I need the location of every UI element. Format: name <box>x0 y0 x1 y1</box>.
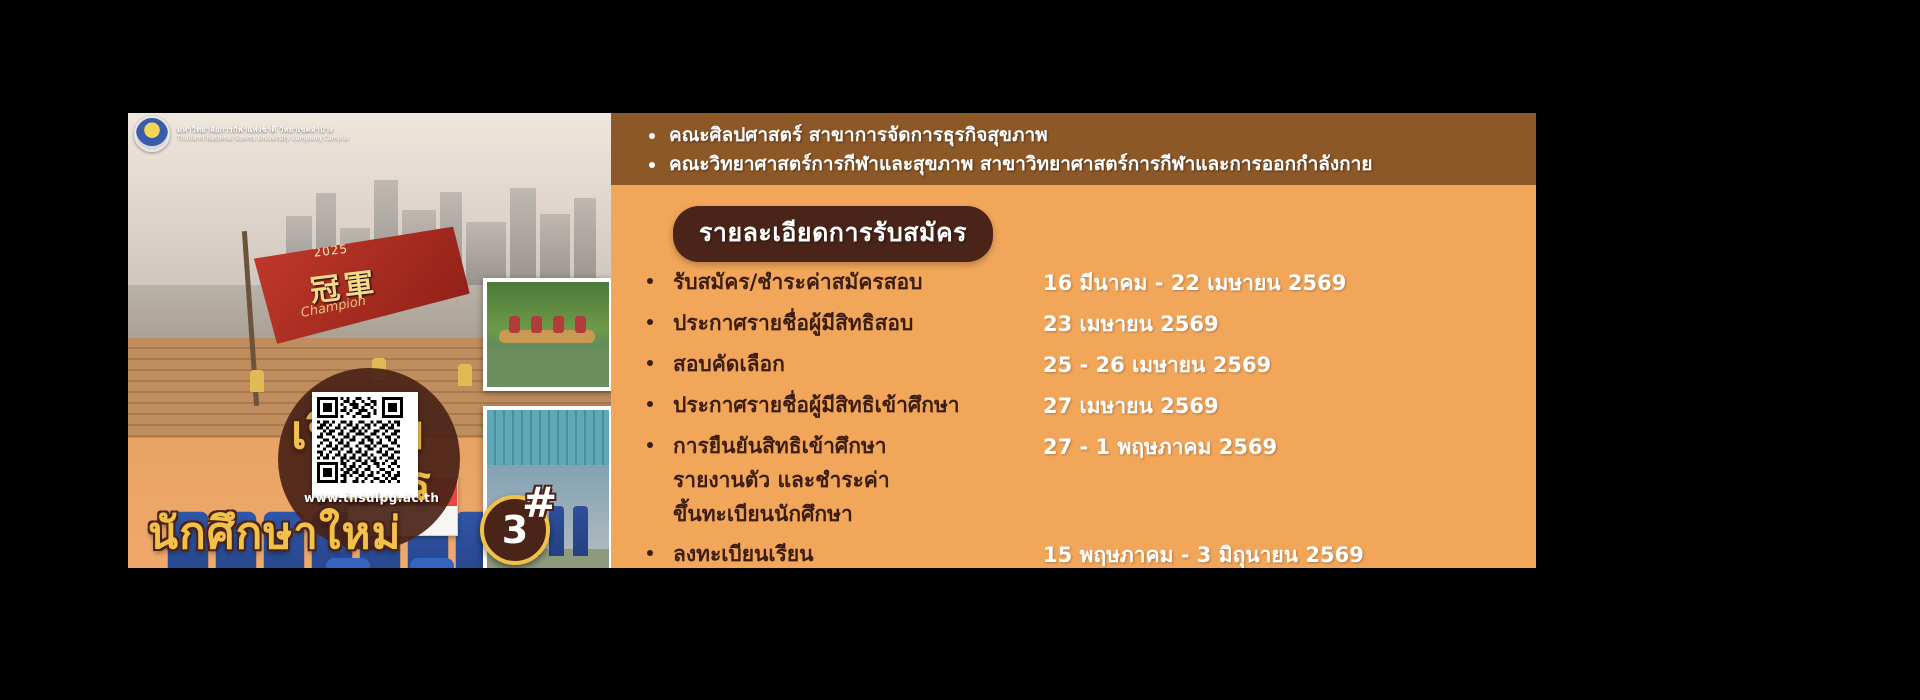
schedule-date: 27 - 1 พฤษภาคม 2569 <box>1043 429 1527 464</box>
programs-header-bar: คณะศิลปศาสตร์ สาขาการจัดการธุรกิจสุขภาพ … <box>611 113 1536 185</box>
university-name-en: Thailand National Sports University Lamp… <box>177 135 349 142</box>
schedule-row: การยืนยันสิทธิเข้าศึกษา รายงานตัว และชำร… <box>647 429 1527 531</box>
schedule-date: 15 พฤษภาคม - 3 มิถุนายน 2569 <box>1043 537 1527 572</box>
schedule-date: 16 มีนาคม - 22 เมษายน 2569 <box>1043 265 1527 300</box>
bullet-icon <box>647 347 673 366</box>
section-title-badge: รายละเอียดการรับสมัคร <box>673 206 993 262</box>
schedule-date: 25 - 26 เมษายน 2569 <box>1043 347 1527 382</box>
schedule-date: 27 เมษายน 2569 <box>1043 388 1527 423</box>
schedule-date: 23 เมษายน 2569 <box>1043 306 1527 341</box>
schedule-label-sub: ขึ้นทะเบียนนักศึกษา <box>673 497 1043 531</box>
university-name-block: มหาวิทยาลัยการกีฬาแห่งชาติ วิทยาเขตลำปาง… <box>177 126 349 142</box>
schedule-row: ประกาศรายชื่อผู้มีสิทธิสอบ 23 เมษายน 256… <box>647 306 1527 341</box>
schedule-row: สอบคัดเลือก 25 - 26 เมษายน 2569 <box>647 347 1527 382</box>
poster-university-branding: มหาวิทยาลัยการกีฬาแห่งชาติ วิทยาเขตลำปาง… <box>128 113 611 155</box>
schedule-row: ประกาศรายชื่อผู้มีสิทธิเข้าศึกษา 27 เมษา… <box>647 388 1527 423</box>
bullet-icon <box>647 265 673 284</box>
university-name-th: มหาวิทยาลัยการกีฬาแห่งชาติ วิทยาเขตลำปาง <box>177 126 349 135</box>
bullet-icon <box>647 537 673 556</box>
program-item: คณะศิลปศาสตร์ สาขาการจัดการธุรกิจสุขภาพ <box>669 121 1536 150</box>
admissions-poster-image: 2025 冠軍 Champion <box>128 113 611 568</box>
screenshot-canvas: 2025 冠軍 Champion <box>0 0 1920 700</box>
program-item: คณะวิทยาศาสตร์การกีฬาและสุขภาพ สาขาวิทยา… <box>669 150 1536 179</box>
schedule-row: รับสมัคร/ชำระค่าสมัครสอบ 16 มีนาคม - 22 … <box>647 265 1527 300</box>
schedule-label: ประกาศรายชื่อผู้มีสิทธิเข้าศึกษา <box>673 388 1043 422</box>
qr-code-icon[interactable] <box>312 392 418 498</box>
programs-list: คณะศิลปศาสตร์ สาขาการจัดการธุรกิจสุขภาพ … <box>611 113 1536 180</box>
bullet-icon <box>647 388 673 407</box>
university-seal-icon <box>134 116 170 152</box>
qr-code-glyph <box>317 397 403 483</box>
admission-schedule-list: รับสมัคร/ชำระค่าสมัครสอบ 16 มีนาคม - 22 … <box>647 265 1527 578</box>
schedule-label-main: การยืนยันสิทธิเข้าศึกษา <box>673 434 887 458</box>
hash-mark-icon: # <box>522 478 557 527</box>
photo-boat-race <box>483 278 611 391</box>
schedule-label: รับสมัคร/ชำระค่าสมัครสอบ <box>673 265 1043 299</box>
poster-headline-new-student: นักศึกษาใหม่ <box>148 498 402 568</box>
schedule-label-sub: รายงานตัว และชำระค่า <box>673 463 1043 497</box>
bullet-icon <box>647 306 673 325</box>
schedule-label: สอบคัดเลือก <box>673 347 1043 381</box>
schedule-label: การยืนยันสิทธิเข้าศึกษา รายงานตัว และชำร… <box>673 429 1043 531</box>
admissions-details-panel: คณะศิลปศาสตร์ สาขาการจัดการธุรกิจสุขภาพ … <box>611 113 1536 568</box>
schedule-label: ลงทะเบียนเรียน <box>673 537 1043 571</box>
bullet-icon <box>647 429 673 448</box>
schedule-row: ลงทะเบียนเรียน 15 พฤษภาคม - 3 มิถุนายน 2… <box>647 537 1527 572</box>
schedule-label: ประกาศรายชื่อผู้มีสิทธิสอบ <box>673 306 1043 340</box>
